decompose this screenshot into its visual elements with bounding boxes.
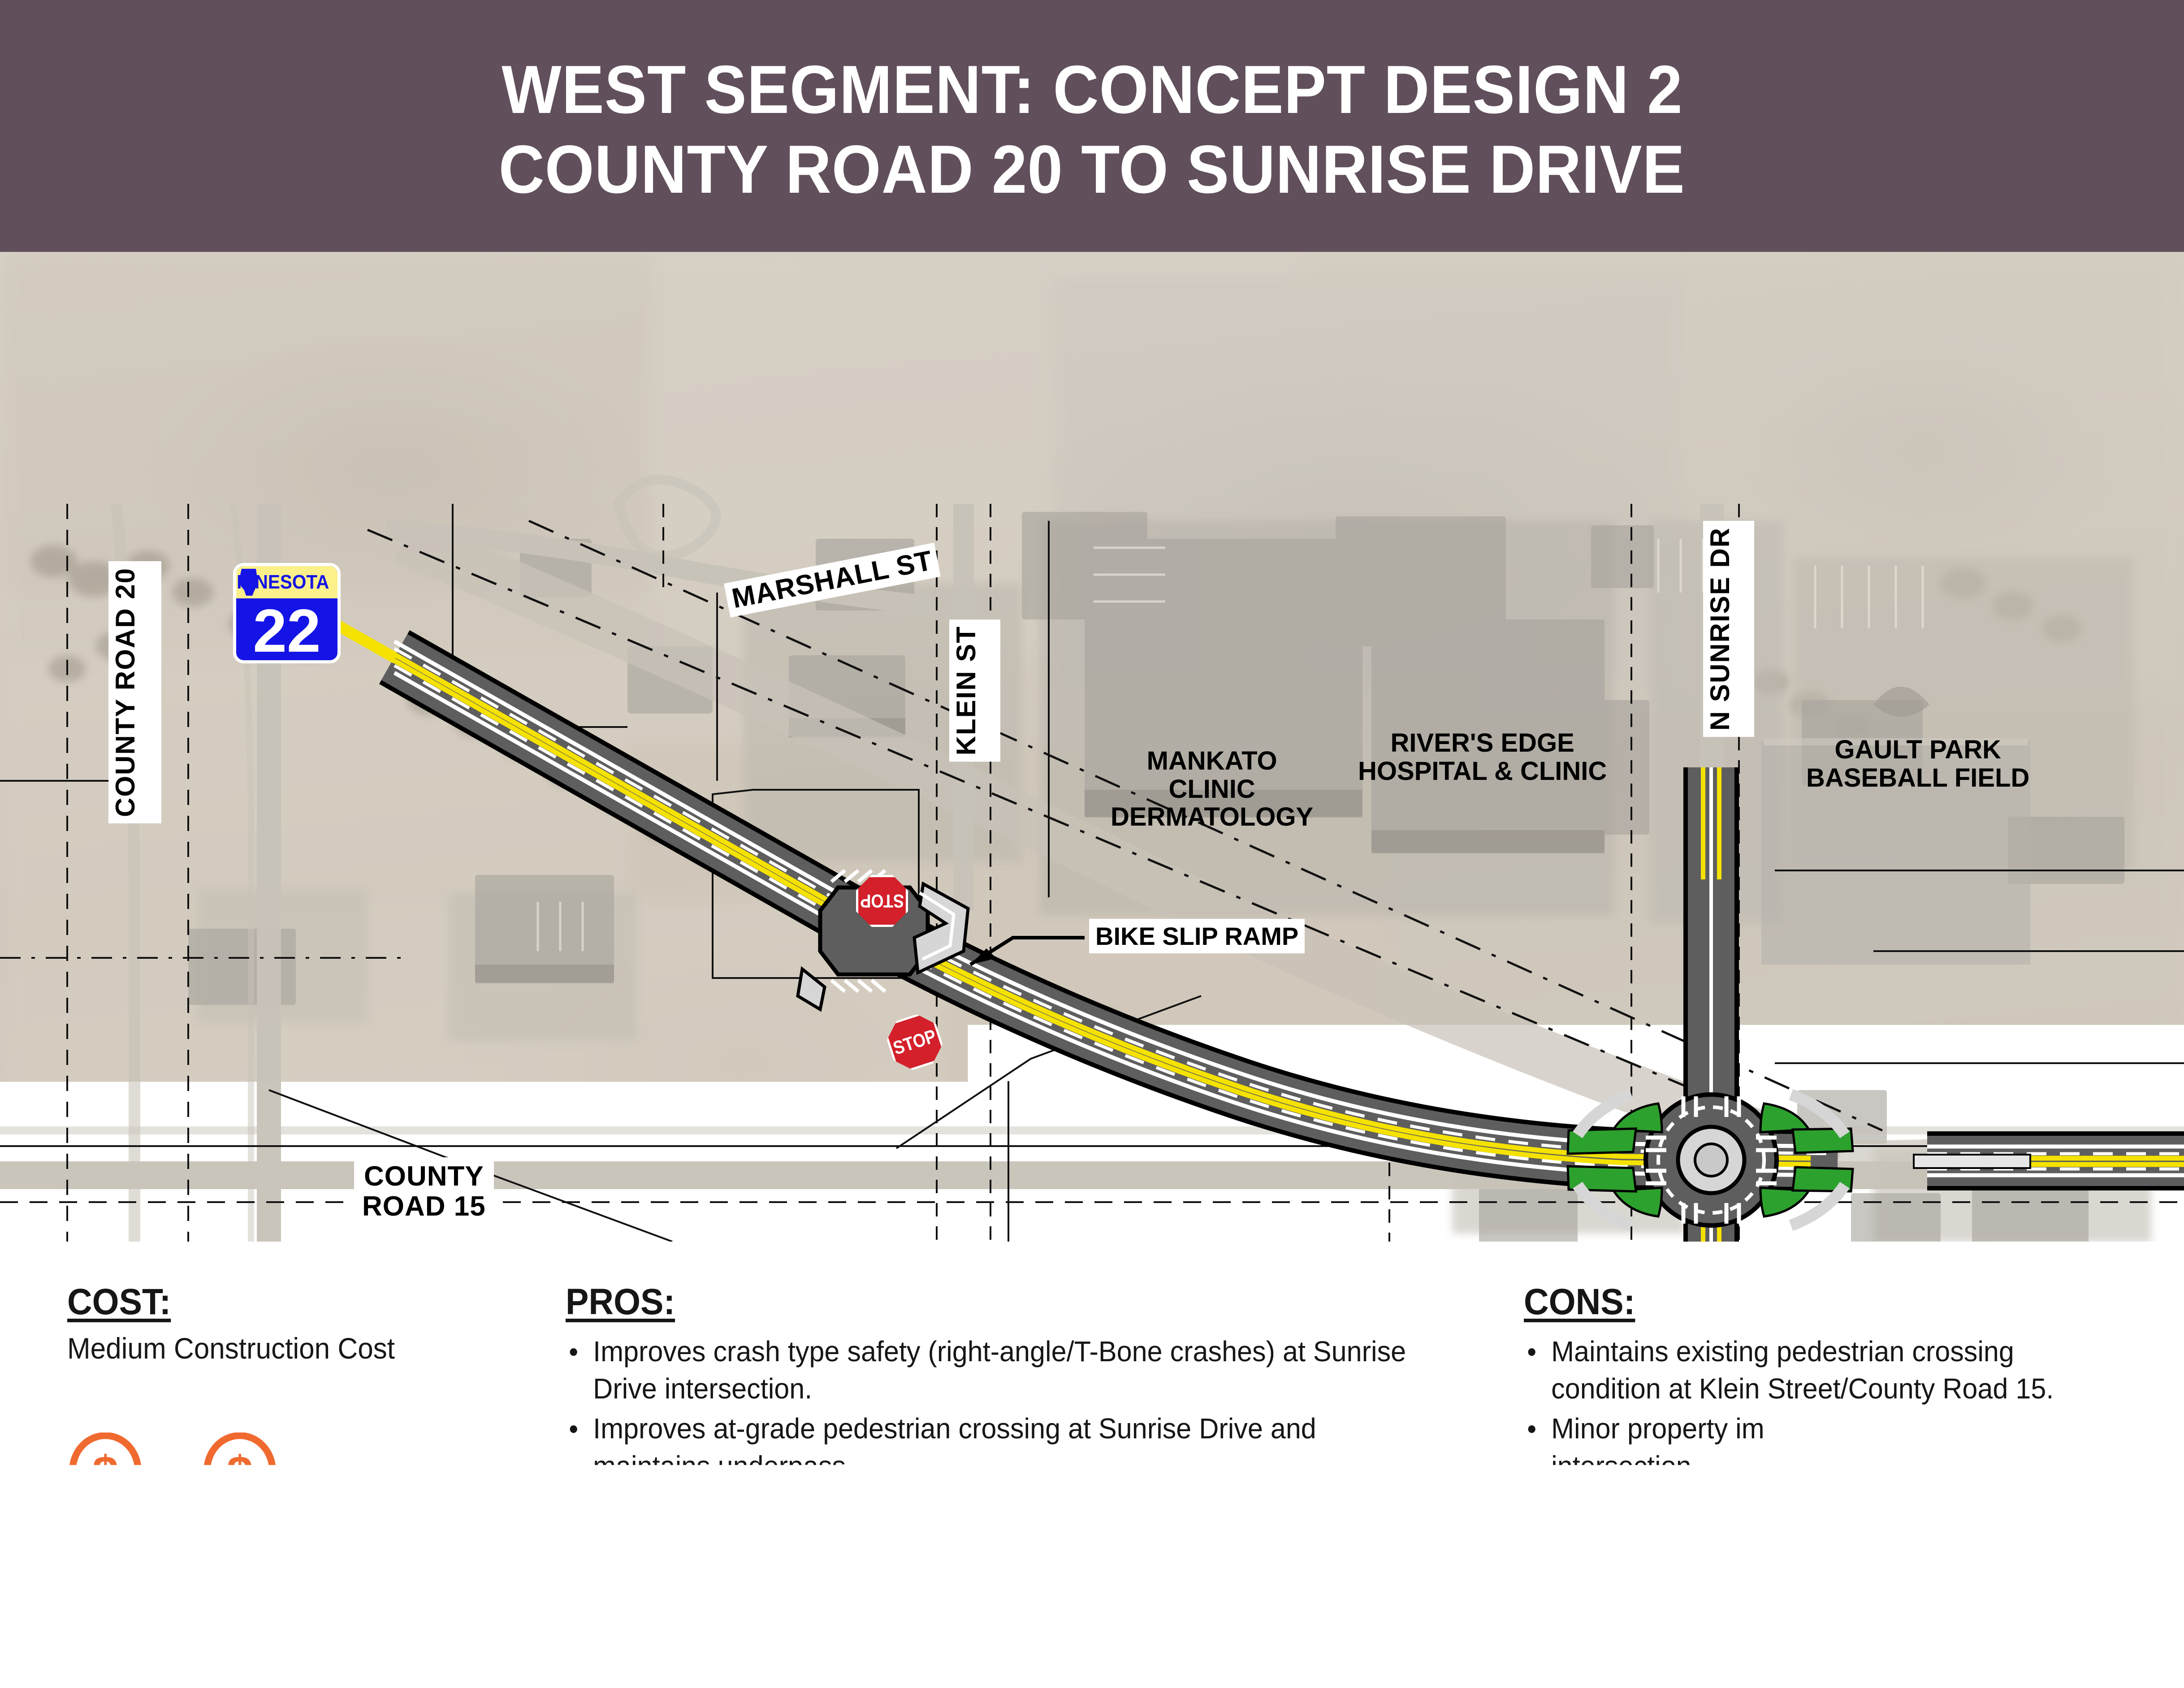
shield-state-label: MINNESOTA (233, 571, 329, 593)
map-label-klein-st: KLEIN ST (949, 619, 1000, 762)
list-item: Improves at-grade pedestrian crossing at… (566, 1410, 1439, 1485)
list-item: Improves traffic flow at Sunrise Drive i… (566, 1488, 1439, 1525)
list-item: No safety or traffic flow improvements a… (1524, 1488, 2123, 1562)
pros-column: PROS: Improves crash type safety (right-… (566, 1242, 1480, 1607)
page-title-line-2: COUNTY ROAD 20 TO SUNRISE DRIVE (499, 130, 1685, 210)
cost-column: COST: Medium Construction Cost $ $ (67, 1242, 551, 1509)
svg-text:$: $ (92, 1447, 119, 1499)
cost-icon-group: $ $ (67, 1433, 551, 1509)
aerial-concept-map[interactable]: MINNESOTA 22 COUNTY ROAD 20 MARSHALL ST … (0, 252, 2184, 1242)
mn-route-shield: MINNESOTA 22 (233, 563, 341, 663)
map-label-n-sunrise-dr: N SUNRISE DR (1703, 521, 1754, 737)
pros-heading: PROS: (566, 1281, 675, 1323)
list-item: Minor property impacts at Sunrise Drive … (1524, 1410, 2123, 1485)
map-label-mankato-clinic: MANKATO CLINIC DERMATOLOGY (1111, 747, 1313, 831)
cons-column: CONS: Maintains existing pedestrian cros… (1524, 1242, 2151, 1565)
shield-band: MINNESOTA (236, 566, 337, 598)
page-title-line-1: WEST SEGMENT: CONCEPT DESIGN 2 (502, 50, 1682, 130)
summary-panel: COST: Medium Construction Cost $ $ PROS:… (0, 1242, 2184, 1688)
bike-slip-ramp-callout: BIKE SLIP RAMP (1089, 919, 1305, 953)
dollar-circle-icon: $ (202, 1433, 278, 1509)
cons-list: Maintains existing pedestrian crossing c… (1524, 1333, 2151, 1562)
dollar-circle-icon: $ (67, 1433, 143, 1509)
map-label-rivers-edge-hospital: RIVER'S EDGE HOSPITAL & CLINIC (1358, 729, 1607, 785)
list-item: Roundabout design accommodates large tru… (566, 1528, 1439, 1565)
map-label-gault-park: GAULT PARK BASEBALL FIELD (1806, 736, 2029, 792)
list-item: No property impacts at Klein Street/Coun… (566, 1567, 1439, 1605)
list-item: Maintains existing pedestrian crossing c… (1524, 1333, 2123, 1407)
cost-value: Medium Construction Cost (67, 1331, 522, 1365)
page-header: WEST SEGMENT: CONCEPT DESIGN 2 COUNTY RO… (0, 0, 2184, 252)
shield-route-number: 22 (236, 597, 337, 663)
cons-heading: CONS: (1524, 1281, 1635, 1323)
map-label-county-road-20: COUNTY ROAD 20 (108, 561, 161, 823)
list-item: Improves crash type safety (right-angle/… (566, 1333, 1439, 1407)
cost-heading: COST: (67, 1281, 171, 1323)
pros-list: Improves crash type safety (right-angle/… (566, 1333, 1480, 1605)
svg-text:$: $ (227, 1447, 253, 1499)
map-label-county-road-15: COUNTY ROAD 15 (354, 1157, 494, 1226)
